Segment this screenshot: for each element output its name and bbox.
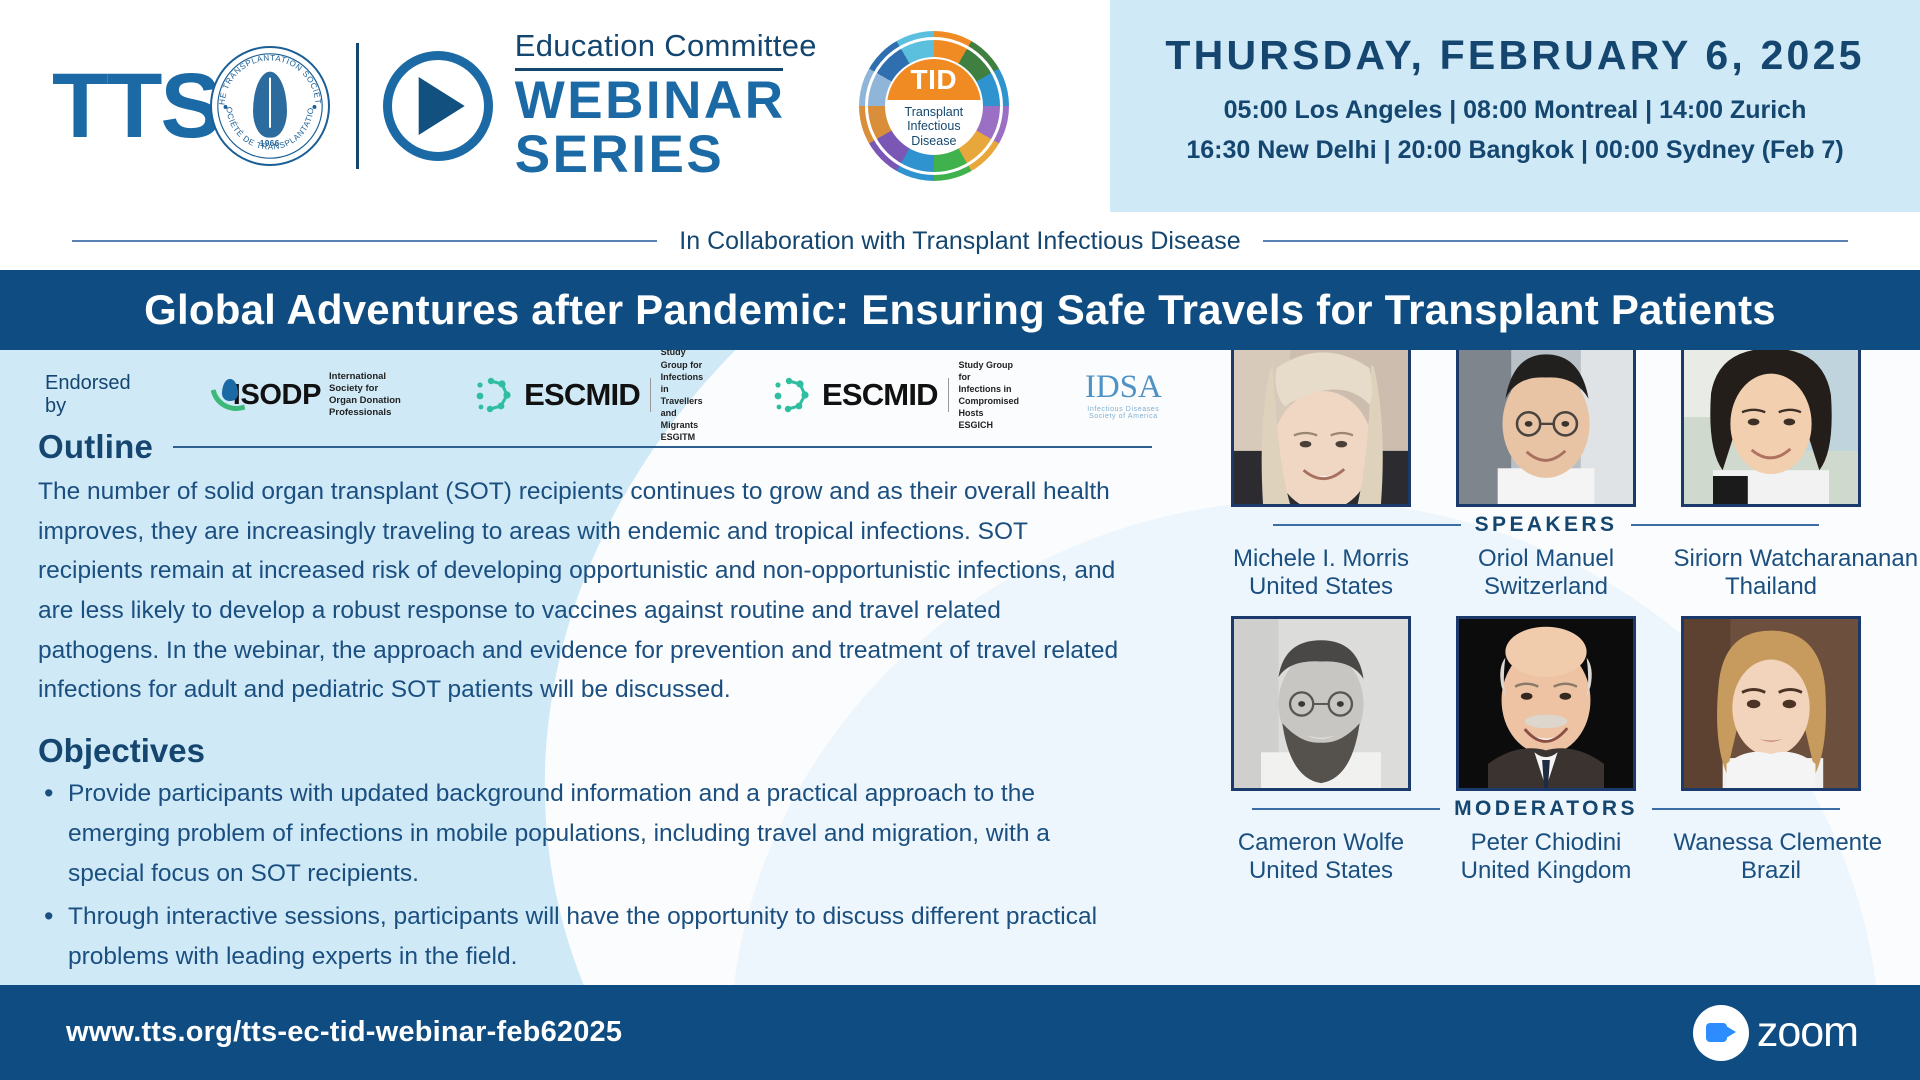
escmid-wordmark-2: ESCMID xyxy=(822,377,938,413)
speaker-name-cell-3: Siriorn Watcharananan Thailand xyxy=(1674,539,1869,602)
collaboration-rule-right xyxy=(1263,240,1848,242)
footer: www.tts.org/tts-ec-tid-webinar-feb62025 … xyxy=(0,985,1920,1080)
objectives-heading: Objectives xyxy=(38,732,1158,770)
speaker-card-1[interactable] xyxy=(1224,350,1419,507)
speaker-name: Michele I. Morris xyxy=(1224,545,1419,573)
moderator-card-1[interactable] xyxy=(1224,616,1419,791)
escmid-molecule-icon-2 xyxy=(774,376,814,414)
webinar-label: WEBINAR xyxy=(515,74,817,128)
webinar-date: THURSDAY, FEBRUARY 6, 2025 xyxy=(1110,32,1920,79)
zoom-camera-icon xyxy=(1693,1005,1749,1061)
moderators-rule-right xyxy=(1652,808,1840,810)
idsa-wordmark: IDSA xyxy=(1082,371,1165,404)
title-bar: Global Adventures after Pandemic: Ensuri… xyxy=(0,270,1920,350)
play-button-icon xyxy=(383,51,493,161)
speakers-rule-left xyxy=(1273,524,1461,526)
moderators-label: MODERATORS xyxy=(1454,797,1638,821)
idsa-logo[interactable]: IDSA Infectious Diseases Society of Amer… xyxy=(1082,371,1165,420)
idsa-subtitle: Infectious Diseases Society of America xyxy=(1082,406,1165,420)
moderators-role-row: MODERATORS xyxy=(1186,797,1906,821)
moderators-rule-left xyxy=(1252,808,1440,810)
speakers-label: SPEAKERS xyxy=(1475,513,1618,537)
escmid-2-sub-line-2: Infections in Compromised xyxy=(959,383,1020,407)
avatar xyxy=(1456,350,1636,507)
tid-logo[interactable]: TID Transplant Infectious Disease xyxy=(859,31,1009,181)
outline-heading: Outline xyxy=(38,428,153,466)
avatar xyxy=(1456,616,1636,791)
speaker-country: Switzerland xyxy=(1449,573,1644,601)
avatar xyxy=(1231,616,1411,791)
tts-seal-year: 1966 xyxy=(260,139,280,148)
zoom-wordmark: zoom xyxy=(1757,1008,1858,1057)
escmid-esgich-logo[interactable]: ESCMID Study Group for Infections in Com… xyxy=(774,359,1020,432)
speaker-country: United States xyxy=(1224,573,1419,601)
moderators-names-row: Cameron Wolfe United States Peter Chiodi… xyxy=(1186,823,1906,886)
main-content: Endorsed by ISODP International Society … xyxy=(0,350,1920,985)
escmid-1-sub-line-1: Study Group for xyxy=(661,350,704,371)
timezone-line-2: 16:30 New Delhi | 20:00 Bangkok | 00:00 … xyxy=(1110,136,1920,165)
moderator-name-cell-1: Cameron Wolfe United States xyxy=(1224,823,1419,886)
outline-rule xyxy=(173,446,1152,448)
speaker-card-3[interactable] xyxy=(1674,350,1869,507)
speaker-country: Thailand xyxy=(1674,573,1869,601)
moderator-country: United Kingdom xyxy=(1449,857,1644,885)
people-column: SPEAKERS Michele I. Morris United States… xyxy=(1186,350,1906,885)
moderator-name: Peter Chiodini xyxy=(1449,829,1644,857)
moderator-country: United States xyxy=(1224,857,1419,885)
speakers-names-row: Michele I. Morris United States Oriol Ma… xyxy=(1186,539,1906,602)
speaker-name: Siriorn Watcharananan xyxy=(1674,545,1869,573)
speaker-name-cell-2: Oriol Manuel Switzerland xyxy=(1449,539,1644,602)
webinar-series-logo[interactable]: Education Committee WEBINAR SERIES xyxy=(383,30,817,183)
speaker-name-cell-1: Michele I. Morris United States xyxy=(1224,539,1419,602)
avatar xyxy=(1681,616,1861,791)
tid-line-3: Disease xyxy=(911,134,956,148)
zoom-logo: zoom xyxy=(1693,1005,1858,1061)
moderator-card-2[interactable] xyxy=(1449,616,1644,791)
isodp-wordmark: ISODP xyxy=(233,379,321,412)
tts-wordmark: TTS xyxy=(52,60,220,152)
escmid-wordmark-1: ESCMID xyxy=(524,377,640,413)
escmid-molecule-icon xyxy=(476,376,516,414)
moderator-name: Cameron Wolfe xyxy=(1224,829,1419,857)
moderator-country: Brazil xyxy=(1674,857,1869,885)
header-logo-group: TTS THE TRANSPLANTATION SOCIETY SOCIÉTÉ … xyxy=(0,0,1120,212)
moderators-photo-row xyxy=(1186,616,1906,791)
escmid-2-sub-line-1: Study Group for xyxy=(959,359,1020,383)
series-label: SERIES xyxy=(515,128,817,182)
tid-line-2: Infectious xyxy=(907,119,961,133)
outline-heading-row: Outline xyxy=(38,428,1158,466)
escmid-divider-1 xyxy=(650,378,651,412)
tts-logo[interactable]: TTS THE TRANSPLANTATION SOCIETY SOCIÉTÉ … xyxy=(52,46,330,166)
collaboration-rule-left xyxy=(72,240,657,242)
endorsed-by-label: Endorsed by xyxy=(45,372,131,418)
moderator-name: Wanessa Clemente xyxy=(1674,829,1869,857)
speaker-name: Oriol Manuel xyxy=(1449,545,1644,573)
isodp-sub-line-2: Organ Donation Professionals xyxy=(329,395,406,419)
tid-logo-inner: TID Transplant Infectious Disease xyxy=(885,57,983,155)
speaker-card-2[interactable] xyxy=(1449,350,1644,507)
moderator-name-cell-2: Peter Chiodini United Kingdom xyxy=(1449,823,1644,886)
isodp-sub-line-1: International Society for xyxy=(329,371,406,395)
escmid-1-sub-line-2: Infections in Travellers xyxy=(661,371,704,407)
tid-line-1: Transplant xyxy=(905,105,964,119)
collaboration-row: In Collaboration with Transplant Infecti… xyxy=(0,212,1920,270)
outline-body-text: The number of solid organ transplant (SO… xyxy=(38,472,1123,710)
isodp-subtitle: International Society for Organ Donation… xyxy=(329,371,406,419)
endorsed-by-row: Endorsed by ISODP International Society … xyxy=(45,372,1165,418)
registration-url[interactable]: www.tts.org/tts-ec-tid-webinar-feb62025 xyxy=(66,1016,622,1049)
tts-seal-icon: THE TRANSPLANTATION SOCIETY SOCIÉTÉ DE T… xyxy=(210,46,330,166)
speakers-role-row: SPEAKERS xyxy=(1186,513,1906,537)
education-committee-label: Education Committee xyxy=(515,30,817,67)
objectives-list: Provide participants with updated backgr… xyxy=(38,774,1158,985)
header-date-panel: THURSDAY, FEBRUARY 6, 2025 05:00 Los Ang… xyxy=(1110,0,1920,212)
webinar-title: Global Adventures after Pandemic: Ensuri… xyxy=(144,286,1776,334)
avatar xyxy=(1231,350,1411,507)
timezone-line-1: 05:00 Los Angeles | 08:00 Montreal | 14:… xyxy=(1110,96,1920,125)
moderator-card-3[interactable] xyxy=(1674,616,1869,791)
escmid-divider-2 xyxy=(948,378,949,412)
left-content-column: Outline The number of solid organ transp… xyxy=(38,428,1158,985)
list-item: Provide participants with updated backgr… xyxy=(38,774,1118,893)
collaboration-text: In Collaboration with Transplant Infecti… xyxy=(679,227,1240,256)
header: THURSDAY, FEBRUARY 6, 2025 05:00 Los Ang… xyxy=(0,0,1920,215)
speakers-rule-right xyxy=(1631,524,1819,526)
isodp-logo[interactable]: ISODP International Society for Organ Do… xyxy=(211,371,407,419)
escmid-subtitle-2: Study Group for Infections in Compromise… xyxy=(959,359,1020,432)
isodp-mark-icon xyxy=(211,377,230,413)
moderator-name-cell-3: Wanessa Clemente Brazil xyxy=(1674,823,1869,886)
logo-divider xyxy=(356,43,359,169)
speakers-photo-row xyxy=(1186,350,1906,507)
list-item: Through interactive sessions, participan… xyxy=(38,897,1118,976)
avatar xyxy=(1681,350,1861,507)
